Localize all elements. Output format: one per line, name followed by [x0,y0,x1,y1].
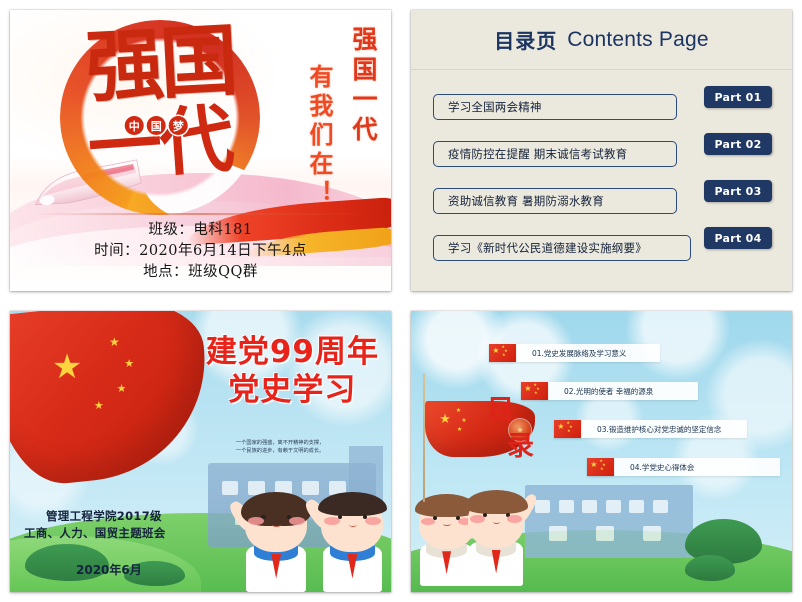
student-kid-icon [468,494,524,586]
china-dream-char-3: 梦 [169,116,188,135]
student-kid-icon [245,496,307,592]
bush-icon [685,555,735,580]
yellow-star-icon: ★ [457,427,462,433]
mulu-heading: 目 录 [487,397,541,463]
contents-row-bar[interactable]: 资助诚信教育 暑期防溺水教育 [433,188,677,214]
contents-title-cn: 目录页 [494,25,557,54]
mulu-char-2: 录 [507,433,534,460]
slide-grid-page: 强国 一代 中 国 梦 有我们在！ 强国一代 班级：电科181 时间：2020年… [0,0,802,602]
vertical-calligraphy-group: 有我们在！ 强国一代 [302,26,381,209]
china-flag-icon: ★★ ★★ [489,344,516,362]
contents-part-badge[interactable]: Part 03 [704,180,772,202]
contents-row-label: 疫情防控在提醒 期末诚信考试教育 [448,146,627,162]
contents-row[interactable]: 学习全国两会精神 Part 01 [433,86,772,120]
contents-header: 目录页 Contents Page [411,10,792,70]
china-flag-icon: ★★ ★★ [587,458,614,476]
china-dream-badge: 中 国 梦 [125,116,188,135]
yellow-star-icon: ★ [52,350,82,384]
slide3-date: 2020年6月 [76,561,142,578]
contents-row-label: 04.学党史心得体会 [614,458,780,476]
contents-row-label: 学习全国两会精神 [448,99,542,115]
contents-part-badge[interactable]: Part 01 [704,86,772,108]
student-kid-icon [321,496,383,592]
china-flag-icon: ★★ ★★ [554,420,581,438]
slide-thumbnail-party-history-contents[interactable]: ★★ ★★ 01.党史发展脉络及学习意义 ★★ ★★ 02.光明的使者 幸福的源… [411,311,792,592]
slide3-subtitle-line-2: 一个民族的进步，有赖于文明的成长。 [236,447,361,455]
contents-row-bar[interactable]: 学习《新时代公民道德建设实施纲要》 [433,235,691,261]
yellow-star-icon: ★ [461,418,466,424]
contents-part-badge[interactable]: Part 02 [704,133,772,155]
china-dream-char-2: 国 [147,116,166,135]
contents-row-label: 资助诚信教育 暑期防溺水教育 [448,193,604,209]
slide-cell-4: ★★ ★★ 01.党史发展脉络及学习意义 ★★ ★★ 02.光明的使者 幸福的源… [401,301,802,602]
meeting-info-class: 班级：电科181 [10,220,391,241]
meeting-info-time: 时间：2020年6月14日下午4点 [10,241,391,262]
flagpole-icon [423,373,425,502]
mulu-char-1: 目 [487,397,514,424]
yellow-star-icon: ★ [94,401,104,412]
school-building-icon [525,485,693,558]
slide3-title-line-2: 党史学习 [206,371,379,409]
slide3-title: 建党99周年 党史学习 [206,333,379,409]
slide3-credits-line-2: 工商、人力、国贸主题班会 [24,525,166,542]
yellow-star-icon: ★ [117,384,127,395]
contents-part-badge[interactable]: Part 04 [704,227,772,249]
contents-title-en: Contents Page [567,28,709,52]
slide-grid: 强国 一代 中 国 梦 有我们在！ 强国一代 班级：电科181 时间：2020年… [0,0,802,602]
china-dream-char-1: 中 [125,116,144,135]
slide-cell-2: 目录页 Contents Page 学习全国两会精神 Part 01 疫情防控在… [401,0,802,301]
contents-row[interactable]: ★★ ★★ 01.党史发展脉络及学习意义 [411,339,792,367]
contents-list: 学习全国两会精神 Part 01 疫情防控在提醒 期末诚信考试教育 Part 0… [411,72,792,287]
slide-thumbnail-strong-nation[interactable]: 强国 一代 中 国 梦 有我们在！ 强国一代 班级：电科181 时间：2020年… [10,10,391,291]
contents-row-label: 03.锻造维护核心对党忠诚的坚定信念 [581,420,747,438]
student-kid-icon [419,498,475,586]
slide3-subtitle: 一个国家的强盛，离不开精神的支撑， 一个民族的进步，有赖于文明的成长。 [236,439,361,455]
yellow-star-icon: ★ [456,408,461,414]
divider [33,213,368,215]
slide3-credits: 管理工程学院2017级 工商、人力、国贸主题班会 [24,508,166,542]
contents-row-label: 01.党史发展脉络及学习意义 [516,344,660,362]
meeting-info-location: 地点：班级QQ群 [10,262,391,283]
calligraphy-left-line: 有我们在！ [302,64,337,209]
yellow-star-icon: ★ [124,359,134,370]
contents-row[interactable]: ★★ ★★ 04.学党史心得体会 [411,453,792,481]
contents-row-bar[interactable]: 学习全国两会精神 [433,94,677,120]
contents-row[interactable]: 疫情防控在提醒 期末诚信考试教育 Part 02 [433,133,772,167]
calligraphy-right-line: 强国一代 [345,26,381,146]
yellow-star-icon: ★ [109,336,120,348]
strong-nation-logo: 强国 一代 中 国 梦 [60,20,260,215]
slide3-title-line-1: 建党99周年 [206,333,379,371]
slide3-subtitle-line-1: 一个国家的强盛，离不开精神的支撑， [236,439,361,447]
contents-row-bar[interactable]: 疫情防控在提醒 期末诚信考试教育 [433,141,677,167]
contents-row[interactable]: 学习《新时代公民道德建设实施纲要》 Part 04 [433,227,772,261]
contents-row[interactable]: 资助诚信教育 暑期防溺水教育 Part 03 [433,180,772,214]
slide3-credits-line-1: 管理工程学院2017级 [24,508,166,525]
meeting-info-block: 班级：电科181 时间：2020年6月14日下午4点 地点：班级QQ群 [10,220,391,283]
slide-cell-1: 强国 一代 中 国 梦 有我们在！ 强国一代 班级：电科181 时间：2020年… [0,0,401,301]
slide-cell-3: ★ ★ ★ ★ ★ 建党99周年 党史学习 一个国家的强盛，离不开精神的支撑， … [0,301,401,602]
contents-row-label: 02.光明的使者 幸福的源泉 [548,382,698,400]
slide-thumbnail-contents-page[interactable]: 目录页 Contents Page 学习全国两会精神 Part 01 疫情防控在… [411,10,792,291]
slide-thumbnail-party-anniversary[interactable]: ★ ★ ★ ★ ★ 建党99周年 党史学习 一个国家的强盛，离不开精神的支撑， … [10,311,391,592]
contents-row-label: 学习《新时代公民道德建设实施纲要》 [448,240,647,256]
yellow-star-icon: ★ [439,412,451,425]
logo-line-2: 一代 [57,97,262,191]
